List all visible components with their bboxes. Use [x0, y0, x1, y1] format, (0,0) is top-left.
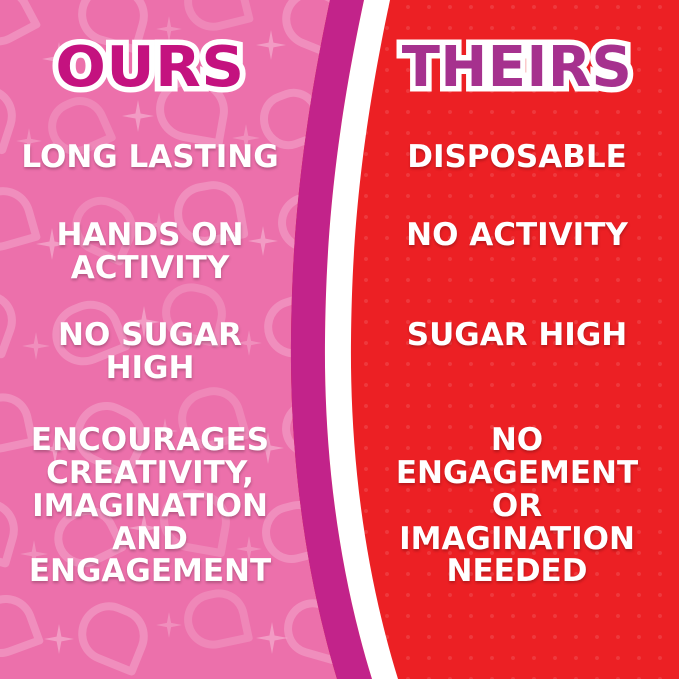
theirs-feature-1: DISPOSABLE [355, 141, 679, 174]
ours-feature-3: NO SUGAR HIGH [0, 319, 300, 385]
ours-feature-2: HANDS ON ACTIVITY [0, 219, 300, 285]
ours-feature-4: ENCOURAGES CREATIVITY, IMAGINATION AND E… [0, 424, 300, 588]
ours-title: OURS [0, 40, 309, 96]
theirs-feature-2: NO ACTIVITY [355, 219, 679, 252]
ours-feature-1: LONG LASTING [0, 141, 300, 174]
theirs-feature-3: SUGAR HIGH [355, 319, 679, 352]
theirs-title: THEIRS [355, 40, 679, 96]
ours-column: OURS LONG LASTING HANDS ON ACTIVITY NO S… [0, 0, 300, 679]
content-columns: OURS LONG LASTING HANDS ON ACTIVITY NO S… [0, 0, 679, 679]
theirs-feature-4: NO ENGAGEMENT OR IMAGINATION NEEDED [355, 424, 679, 588]
theirs-column: THEIRS DISPOSABLE NO ACTIVITY SUGAR HIGH… [355, 0, 679, 679]
comparison-infographic: OURS LONG LASTING HANDS ON ACTIVITY NO S… [0, 0, 679, 679]
